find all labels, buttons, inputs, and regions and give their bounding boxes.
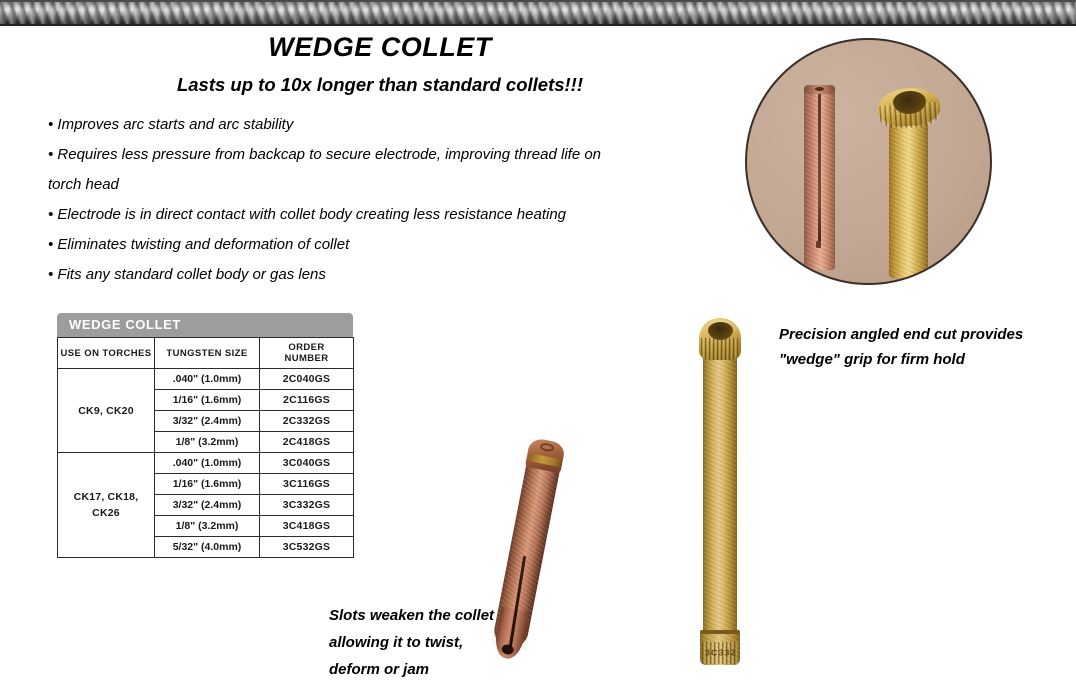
table-banner-title: WEDGE COLLET <box>57 313 353 337</box>
table-header-row: USE ON TORCHES TUNGSTEN SIZE ORDER NUMBE… <box>58 338 354 369</box>
table-row: CK17, CK18, CK26 .040" (1.0mm) 3C040GS <box>58 453 354 474</box>
inset-copper-slot-end <box>816 241 821 248</box>
torch-group-line1: CK17, CK18, <box>74 491 139 503</box>
list-item: • Requires less pressure from backcap to… <box>48 140 708 170</box>
size-cell: 1/16" (1.6mm) <box>155 390 260 411</box>
size-cell: 1/8" (3.2mm) <box>155 432 260 453</box>
list-item: • Fits any standard collet body or gas l… <box>48 260 708 290</box>
brass-collet-stamp: 3C332 <box>705 649 735 659</box>
list-item: • Electrode is in direct contact with co… <box>48 200 708 230</box>
order-cell: 3C418GS <box>260 516 354 537</box>
column-header-tungsten-size: TUNGSTEN SIZE <box>155 338 260 369</box>
size-cell: .040" (1.0mm) <box>155 369 260 390</box>
inset-copper-slot <box>818 86 821 248</box>
annotation-precision-angled-end: Precision angled end cut provides "wedge… <box>779 322 1076 372</box>
order-cell: 3C332GS <box>260 495 354 516</box>
order-cell: 2C040GS <box>260 369 354 390</box>
list-item-continuation: torch head <box>48 170 708 200</box>
size-cell: .040" (1.0mm) <box>155 453 260 474</box>
order-cell: 2C116GS <box>260 390 354 411</box>
annotation-slots-weaken-collet: Slots weaken the collet allowing it to t… <box>329 602 549 683</box>
order-cell: 3C532GS <box>260 537 354 558</box>
column-header-order-number: ORDER NUMBER <box>260 338 354 369</box>
size-cell: 1/16" (1.6mm) <box>155 474 260 495</box>
brass-collet-body <box>703 336 737 636</box>
order-cell: 3C040GS <box>260 453 354 474</box>
torch-group-ck17-ck18-ck26: CK17, CK18, CK26 <box>58 453 155 558</box>
circular-product-photo <box>745 38 992 285</box>
order-cell: 3C116GS <box>260 474 354 495</box>
brass-collet-bore <box>708 320 733 340</box>
annotation-right-line2: "wedge" grip for firm hold <box>779 347 1076 372</box>
size-cell: 1/8" (3.2mm) <box>155 516 260 537</box>
list-item: • Improves arc starts and arc stability <box>48 110 708 140</box>
order-cell: 2C332GS <box>260 411 354 432</box>
annotation-right-line1: Precision angled end cut provides <box>779 322 1076 347</box>
order-cell: 2C418GS <box>260 432 354 453</box>
inset-copper-bore <box>815 87 824 91</box>
annotation-bottom-line2: allowing it to twist, <box>329 629 549 656</box>
product-info-sheet: WEDGE COLLET Lasts up to 10x longer than… <box>0 0 1076 700</box>
column-header-use-on-torches: USE ON TORCHES <box>58 338 155 369</box>
page-title: WEDGE COLLET <box>120 32 640 63</box>
brass-wedge-collet-photo: 3C332 <box>699 312 741 665</box>
annotation-bottom-line1: Slots weaken the collet <box>329 602 549 629</box>
collet-spec-table: WEDGE COLLET USE ON TORCHES TUNGSTEN SIZ… <box>57 313 353 558</box>
feature-bullet-list: • Improves arc starts and arc stability … <box>48 110 708 290</box>
torch-group-line2: CK26 <box>92 507 120 519</box>
cable-bottom-edge <box>0 24 1076 26</box>
cable-top-edge <box>0 0 1076 2</box>
braided-cable-banner-icon <box>0 0 1076 26</box>
size-cell: 5/32" (4.0mm) <box>155 537 260 558</box>
annotation-bottom-line3: deform or jam <box>329 656 549 683</box>
torch-group-ck9-ck20: CK9, CK20 <box>58 369 155 453</box>
order-number-line1: ORDER <box>288 342 324 353</box>
table-row: CK9, CK20 .040" (1.0mm) 2C040GS <box>58 369 354 390</box>
brass-collet-head-flutes <box>701 338 739 360</box>
cable-weave-pattern-secondary <box>0 0 1076 26</box>
size-cell: 3/32" (2.4mm) <box>155 495 260 516</box>
list-item: • Eliminates twisting and deformation of… <box>48 230 708 260</box>
page-subtitle: Lasts up to 10x longer than standard col… <box>80 74 680 96</box>
size-cell: 3/32" (2.4mm) <box>155 411 260 432</box>
order-number-line2: NUMBER <box>284 353 328 364</box>
brass-collet-base-shoulder <box>700 630 740 634</box>
table: USE ON TORCHES TUNGSTEN SIZE ORDER NUMBE… <box>57 337 354 558</box>
